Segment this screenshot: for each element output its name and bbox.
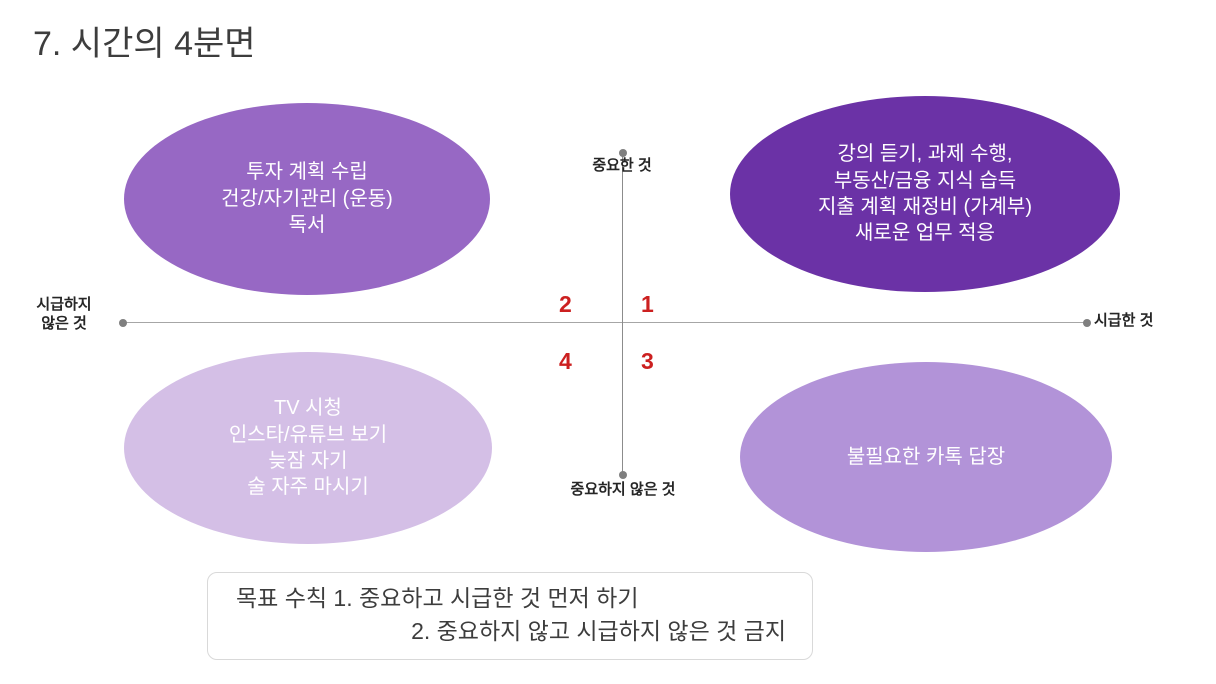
goal-rule-line-1: 목표 수칙 1. 중요하고 시급한 것 먼저 하기 — [228, 582, 792, 615]
page-title: 7. 시간의 4분면 — [33, 16, 256, 65]
quadrant-number-2: 2 — [559, 291, 572, 318]
axis-label-urgent: 시급한 것 — [1094, 312, 1153, 331]
quadrant-ellipse-4[interactable]: TV 시청 인스타/유튜브 보기 늦잠 자기 술 자주 마시기 — [124, 352, 492, 544]
quadrant-ellipse-1[interactable]: 강의 듣기, 과제 수행, 부동산/금융 지식 습득 지출 계획 재정비 (가계… — [730, 96, 1120, 292]
axis-label-not-important: 중요하지 않은 것 — [528, 481, 718, 500]
axis-endpoint-dot-right — [1083, 319, 1091, 327]
axis-label-not-urgent: 시급하지 않은 것 — [12, 296, 116, 334]
quadrant-ellipse-3[interactable]: 불필요한 카톡 답장 — [740, 362, 1112, 552]
quadrant-number-3: 3 — [641, 348, 654, 375]
quadrant-ellipse-2[interactable]: 투자 계획 수립 건강/자기관리 (운동) 독서 — [124, 103, 490, 295]
horizontal-axis-line — [122, 322, 1086, 323]
axis-endpoint-dot-bottom — [619, 471, 627, 479]
quadrant-number-1: 1 — [641, 291, 654, 318]
goal-rule-line-2: 2. 중요하지 않고 시급하지 않은 것 금지 — [228, 615, 792, 648]
goal-rules-box: 목표 수칙 1. 중요하고 시급한 것 먼저 하기 2. 중요하지 않고 시급하… — [207, 572, 813, 660]
axis-endpoint-dot-top — [619, 149, 627, 157]
vertical-axis-line — [622, 152, 623, 474]
axis-endpoint-dot-left — [119, 319, 127, 327]
axis-label-important: 중요한 것 — [562, 157, 682, 176]
quadrant-number-4: 4 — [559, 348, 572, 375]
